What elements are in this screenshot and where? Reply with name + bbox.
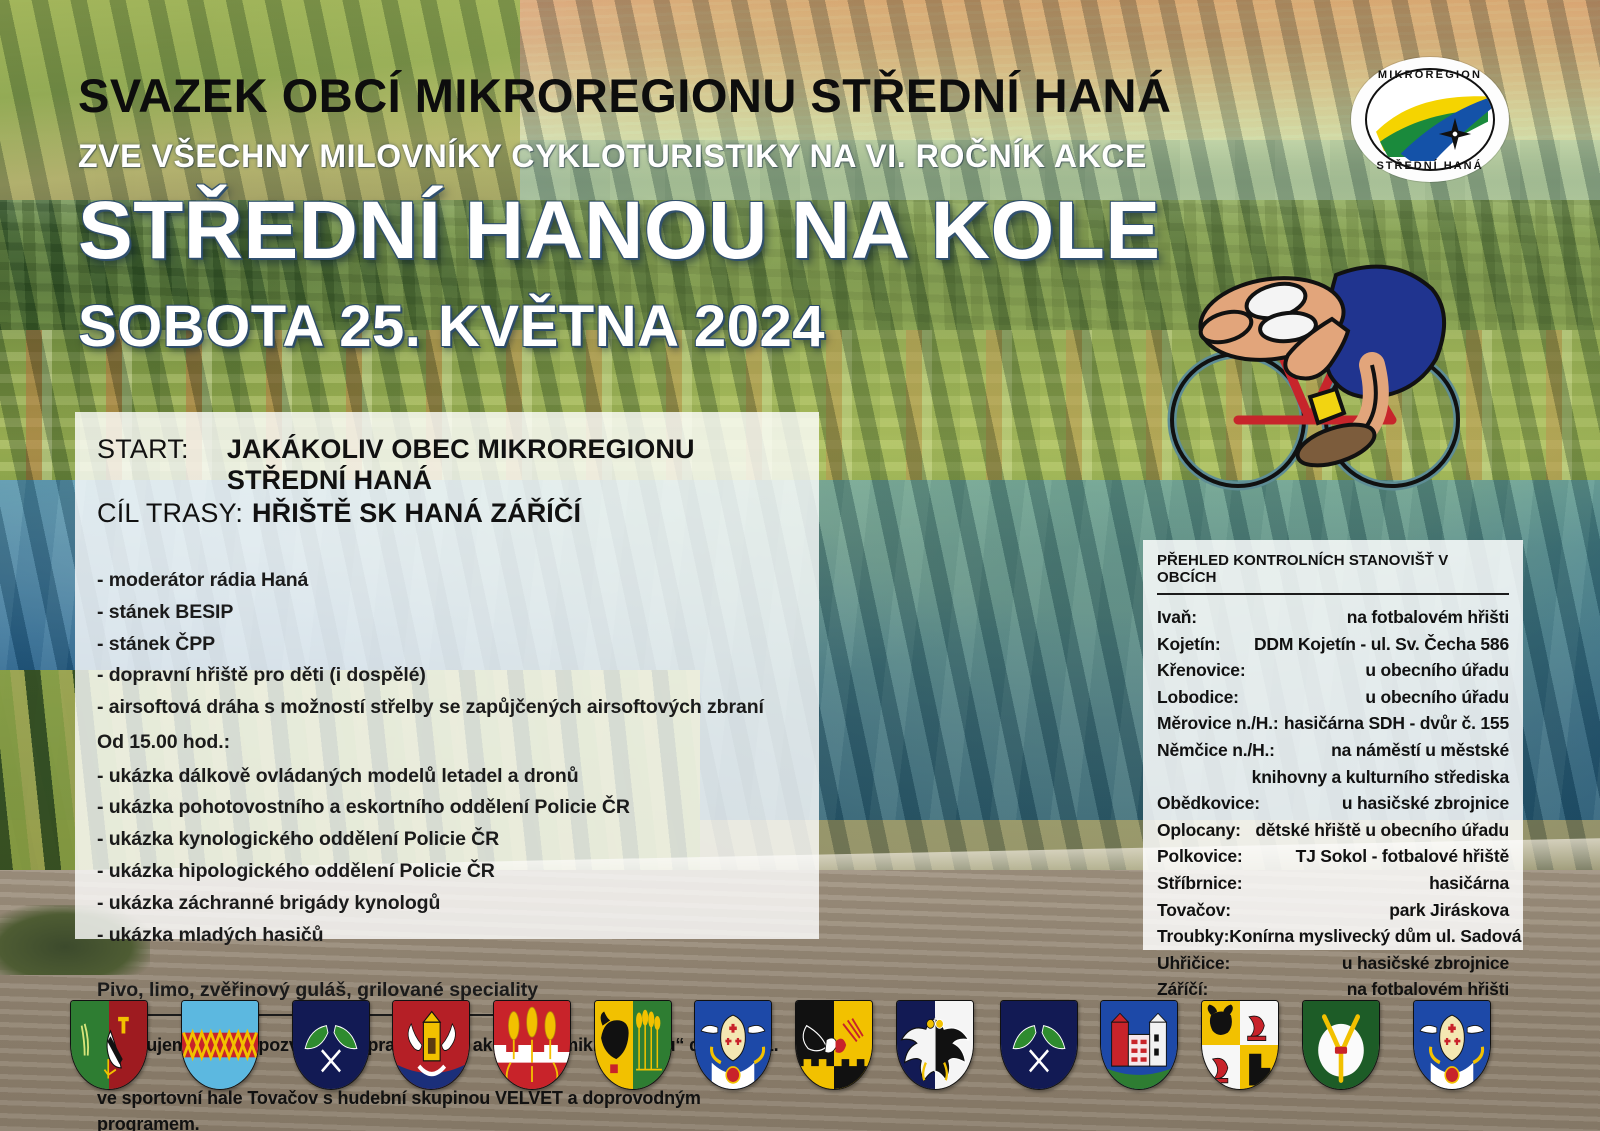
- crest-troubky: [1201, 1000, 1279, 1090]
- checkpoint-place: Uhřičice:: [1157, 950, 1230, 977]
- crest-lobodice: [392, 1000, 470, 1090]
- start-value: JAKÁKOLIV OBEC MIKROREGIONU STŘEDNÍ HANÁ: [227, 434, 797, 496]
- checkpoint-location: park Jiráskova: [1389, 897, 1509, 924]
- checkpoints-divider: [1157, 593, 1509, 595]
- logo-text-bottom: STŘEDNÍ HANÁ: [1351, 160, 1509, 172]
- checkpoint-location: u hasičské zbrojnice: [1342, 790, 1509, 817]
- checkpoint-row: Záříčí:na fotbalovém hřišti: [1157, 976, 1509, 1003]
- program-item: - airsoftová dráha s možností střelby se…: [97, 692, 797, 724]
- mikroregion-logo: MIKROREGION STŘEDNÍ HANÁ: [1351, 57, 1509, 182]
- crest-polkovice: [896, 1000, 974, 1090]
- checkpoints-panel: PŘEHLED KONTROLNÍCH STANOVIŠŤ V OBCÍCH I…: [1143, 540, 1523, 950]
- crest-obedkovice: [694, 1000, 772, 1090]
- program-item: - ukázka pohotovostního a eskortního odd…: [97, 792, 797, 824]
- crest-merovice: [493, 1000, 571, 1090]
- checkpoint-row: Měrovice n./H.:hasičárna SDH - dvůr č. 1…: [1157, 710, 1509, 737]
- crest-stribrnice: [1000, 1000, 1078, 1090]
- checkpoint-row: Stříbrnice:hasičárna: [1157, 870, 1509, 897]
- program-item: - dopravní hřiště pro děti (i dospělé): [97, 660, 797, 692]
- program-item: - ukázka záchranné brigády kynologů: [97, 888, 797, 920]
- crest-krenovice: [292, 1000, 370, 1090]
- checkpoint-location: hasičárna SDH - dvůr č. 155: [1284, 710, 1509, 737]
- crest-kojetin: [181, 1000, 259, 1090]
- program-list: - moderátor rádia Haná- stánek BESIP- st…: [97, 565, 797, 951]
- checkpoint-place: Oplocany:: [1157, 817, 1241, 844]
- logo-ring: [1365, 68, 1495, 171]
- start-label: START:: [97, 434, 227, 465]
- checkpoint-place: Křenovice:: [1157, 657, 1245, 684]
- checkpoint-row: Němčice n./H.:na náměstí u městské: [1157, 737, 1509, 764]
- checkpoint-place: Kojetín:: [1157, 631, 1221, 658]
- afternoon-heading: Od 15.00 hod.:: [97, 727, 797, 759]
- organization-heading: SVAZEK OBCÍ MIKROREGIONU STŘEDNÍ HANÁ: [78, 68, 1171, 123]
- checkpoint-location: u obecního úřadu: [1365, 684, 1509, 711]
- checkpoint-location: na fotbalovém hřišti: [1347, 604, 1509, 631]
- checkpoint-location: na náměstí u městské: [1331, 737, 1509, 764]
- checkpoint-place: Tovačov:: [1157, 897, 1231, 924]
- checkpoint-place: Polkovice:: [1157, 843, 1243, 870]
- checkpoint-place: Záříčí:: [1157, 976, 1208, 1003]
- checkpoint-location: na fotbalovém hřišti: [1347, 976, 1509, 1003]
- crest-ivan: [70, 1000, 148, 1090]
- finish-value: HŘIŠTĚ SK HANÁ ZÁŘÍČÍ: [252, 498, 581, 529]
- checkpoint-place: Stříbrnice:: [1157, 870, 1242, 897]
- program-item: - stánek ČPP: [97, 629, 797, 661]
- checkpoint-location: DDM Kojetín - ul. Sv. Čecha 586: [1254, 631, 1509, 658]
- checkpoints-title: PŘEHLED KONTROLNÍCH STANOVIŠŤ V OBCÍCH: [1157, 552, 1509, 586]
- program-item: - ukázka hipologického oddělení Policie …: [97, 856, 797, 888]
- poster: SVAZEK OBCÍ MIKROREGIONU STŘEDNÍ HANÁ ZV…: [0, 0, 1600, 1131]
- checkpoint-place: Němčice n./H.:: [1157, 737, 1275, 764]
- checkpoint-place: Obědkovice:: [1157, 790, 1260, 817]
- refreshments-text: Pivo, limo, zvěřinový guláš, grilované s…: [97, 979, 797, 1002]
- checkpoint-row: Tovačov:park Jiráskova: [1157, 897, 1509, 924]
- checkpoint-location: u obecního úřadu: [1365, 657, 1509, 684]
- checkpoint-row: Křenovice:u obecního úřadu: [1157, 657, 1509, 684]
- checkpoint-row: Uhřičice:u hasičské zbrojnice: [1157, 950, 1509, 977]
- info-panel: START: JAKÁKOLIV OBEC MIKROREGIONU STŘED…: [75, 412, 819, 939]
- checkpoint-place: Ivaň:: [1157, 604, 1197, 631]
- checkpoint-location: Konírna myslivecký dům ul. Sadová: [1229, 923, 1521, 950]
- checkpoint-row: knihovny a kulturního střediska: [1157, 764, 1509, 791]
- municipal-crests-row: [0, 1000, 1600, 1100]
- checkpoint-place: Měrovice n./H.:: [1157, 710, 1278, 737]
- logo-text-top: MIKROREGION: [1351, 69, 1509, 81]
- checkpoint-row: Obědkovice:u hasičské zbrojnice: [1157, 790, 1509, 817]
- invitation-subtitle: ZVE VŠECHNY MILOVNÍKY CYKLOTURISTIKY NA …: [78, 138, 1147, 175]
- crest-nemcice: [594, 1000, 672, 1090]
- crest-uhricice: [1302, 1000, 1380, 1090]
- crest-tovacov: [1100, 1000, 1178, 1090]
- checkpoint-row: Polkovice:TJ Sokol - fotbalové hřiště: [1157, 843, 1509, 870]
- program-item: - moderátor rádia Haná: [97, 565, 797, 597]
- checkpoint-row: Kojetín:DDM Kojetín - ul. Sv. Čecha 586: [1157, 631, 1509, 658]
- checkpoint-location: TJ Sokol - fotbalové hřiště: [1296, 843, 1509, 870]
- checkpoint-location: knihovny a kulturního střediska: [1252, 764, 1509, 791]
- program-item: - ukázka dálkově ovládaných modelů letad…: [97, 761, 797, 793]
- checkpoint-row: Oplocany:dětské hřiště u obecního úřadu: [1157, 817, 1509, 844]
- crest-zarici: [1413, 1000, 1491, 1090]
- finish-label: CÍL TRASY:: [97, 498, 252, 529]
- program-item: - ukázka mladých hasičů: [97, 920, 797, 952]
- checkpoint-place: Troubky:: [1157, 923, 1229, 950]
- checkpoints-rows: Ivaň:na fotbalovém hřištiKojetín:DDM Koj…: [1157, 604, 1509, 1003]
- cyclist-illustration-icon: [1160, 215, 1460, 515]
- start-row: START: JAKÁKOLIV OBEC MIKROREGIONU STŘED…: [97, 434, 797, 496]
- compass-rose-icon: [1438, 117, 1472, 151]
- event-date: SOBOTA 25. KVĚTNA 2024: [78, 298, 825, 356]
- program-item: - ukázka kynologického oddělení Policie …: [97, 824, 797, 856]
- program-item: - stánek BESIP: [97, 597, 797, 629]
- checkpoint-location: dětské hřiště u obecního úřadu: [1255, 817, 1509, 844]
- checkpoint-location: hasičárna: [1429, 870, 1509, 897]
- finish-row: CÍL TRASY: HŘIŠTĚ SK HANÁ ZÁŘÍČÍ: [97, 498, 797, 529]
- checkpoint-row: Lobodice:u obecního úřadu: [1157, 684, 1509, 711]
- checkpoint-place: Lobodice:: [1157, 684, 1239, 711]
- checkpoint-row: Ivaň:na fotbalovém hřišti: [1157, 604, 1509, 631]
- checkpoint-row: Troubky:Konírna myslivecký dům ul. Sadov…: [1157, 923, 1509, 950]
- page-title: STŘEDNÍ HANOU NA KOLE: [78, 190, 1161, 272]
- checkpoint-location: u hasičské zbrojnice: [1342, 950, 1509, 977]
- crest-oplocany: [795, 1000, 873, 1090]
